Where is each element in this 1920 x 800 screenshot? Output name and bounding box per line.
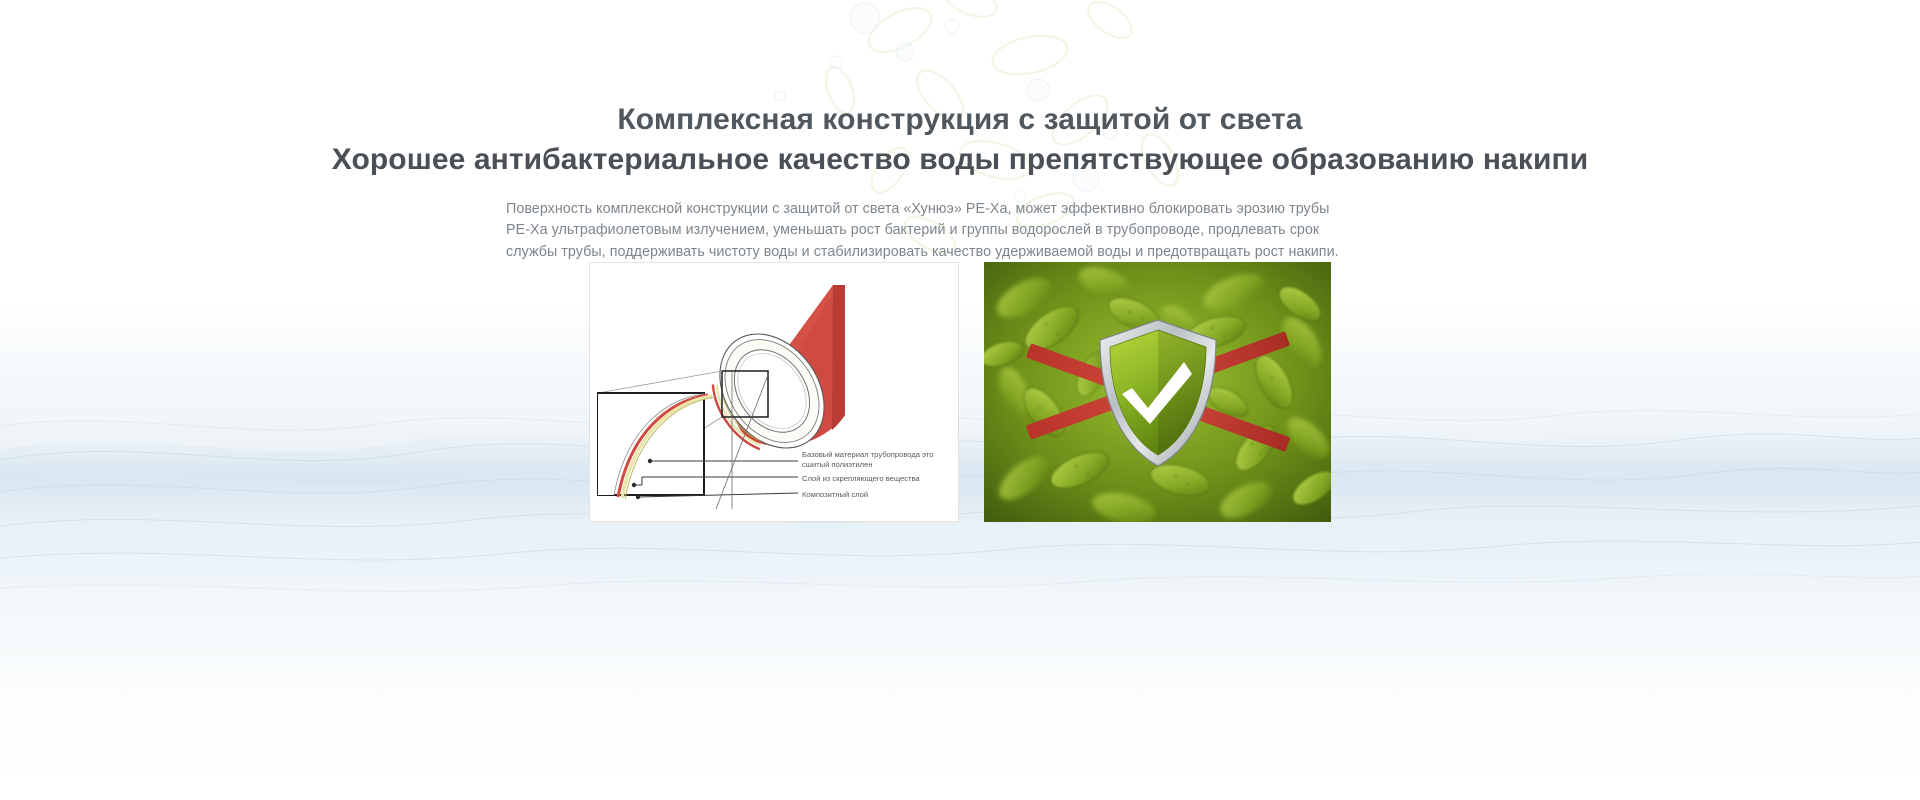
- figures-row: Базовый материал трубопровода это сшитый…: [0, 262, 1920, 522]
- pipe-label-2: Слой из скрепляющего вещества: [802, 474, 920, 483]
- description-paragraph: Поверхность комплексной конструкции с за…: [500, 199, 1420, 264]
- headline-line-2: Хорошее антибактериальное качество воды …: [0, 140, 1920, 180]
- headline-line-1: Комплексная конструкция с защитой от све…: [0, 100, 1920, 140]
- pipe-label-1b: сшитый полиэтилен: [802, 460, 873, 469]
- page-content: Комплексная конструкция с защитой от све…: [0, 0, 1920, 263]
- description-line-2: PE-Xa ультрафиолетовым излучением, умень…: [506, 220, 1420, 242]
- pipe-label-1a: Базовый материал трубопровода это: [802, 450, 933, 459]
- description-line-1: Поверхность комплексной конструкции с за…: [506, 199, 1420, 221]
- pipe-cutaway-diagram: Базовый материал трубопровода это сшитый…: [589, 262, 959, 522]
- pipe-label-3: Композитный слой: [802, 490, 868, 499]
- headline-block: Комплексная конструкция с защитой от све…: [0, 0, 1920, 180]
- antibacterial-shield-photo: [984, 262, 1331, 522]
- description-line-3: службы трубы, поддерживать чистоту воды …: [506, 242, 1420, 264]
- layer-detail-zoom: [598, 393, 715, 499]
